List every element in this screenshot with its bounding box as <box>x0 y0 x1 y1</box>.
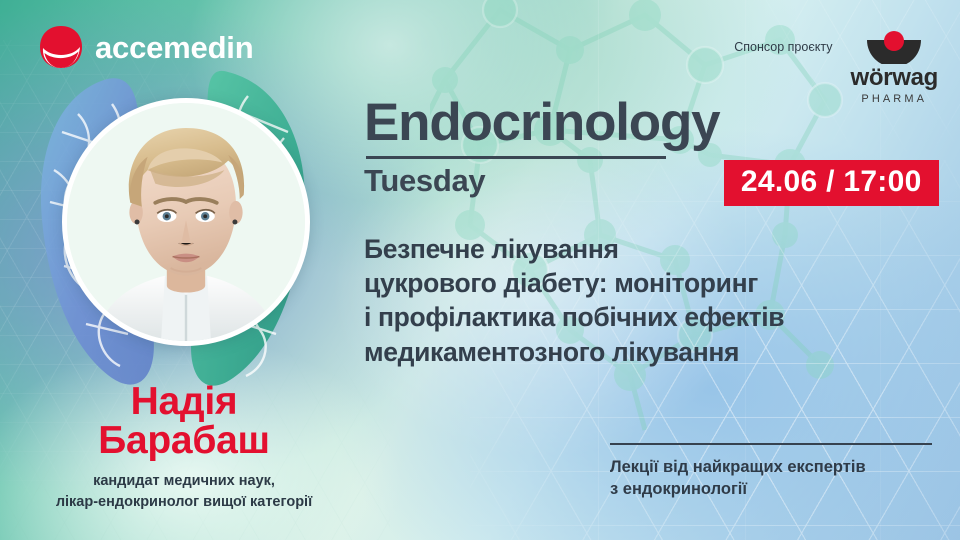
promo-banner: accemedin Спонсор проєкту wörwag PHARMA <box>0 0 960 540</box>
lecture-title-line-2: цукрового діабету: моніторинг <box>364 266 944 300</box>
accemedin-drop-logo-icon <box>38 24 84 70</box>
worwag-name: wörwag <box>850 66 938 90</box>
footer-divider <box>610 443 932 445</box>
speaker-portrait <box>62 98 310 346</box>
sponsor-block: Спонсор проєкту wörwag PHARMA <box>734 30 938 105</box>
speaker-name: Надія Барабаш <box>0 382 368 460</box>
footer-tagline: Лекції від найкращих експертів з ендокри… <box>610 443 940 501</box>
series-heading: Endocrinology Tuesday <box>364 96 719 196</box>
portrait-frame <box>62 98 310 346</box>
series-day: Tuesday <box>364 165 719 196</box>
series-title: Endocrinology <box>364 96 719 149</box>
speaker-credential-line-1: кандидат медичних наук, <box>0 471 368 492</box>
speaker-credential-line-2: лікар-ендокринолог вищої категорії <box>0 492 368 513</box>
speaker-last-name: Барабаш <box>0 421 368 460</box>
worwag-circle-bowl-logo-icon <box>863 30 925 64</box>
speaker-credentials: кандидат медичних наук, лікар-ендокринол… <box>0 471 368 512</box>
main-content: Endocrinology Tuesday 24.06 / 17:00 Безп… <box>364 96 944 369</box>
footer-line-1: Лекції від найкращих експертів <box>610 456 940 478</box>
footer-line-2: з ендокринології <box>610 478 940 500</box>
speaker-first-name: Надія <box>0 382 368 421</box>
worwag-logo[interactable]: wörwag PHARMA <box>850 30 938 105</box>
lecture-title-line-1: Безпечне лікування <box>364 232 944 266</box>
speaker-info: Надія Барабаш кандидат медичних наук, лі… <box>0 382 368 512</box>
accemedin-logo[interactable]: accemedin <box>38 24 253 70</box>
accemedin-wordmark: accemedin <box>95 32 253 63</box>
date-time-badge[interactable]: 24.06 / 17:00 <box>724 160 939 206</box>
lecture-title-line-3: і профілактика побічних ефектів <box>364 300 944 334</box>
series-title-underline <box>366 156 666 159</box>
lecture-title-line-4: медикаментозного лікування <box>364 335 944 369</box>
footer-text: Лекції від найкращих експертів з ендокри… <box>610 456 940 501</box>
sponsor-label: Спонсор проєкту <box>734 40 832 54</box>
speaker-portrait-image <box>67 103 305 341</box>
lecture-title: Безпечне лікування цукрового діабету: мо… <box>364 232 944 370</box>
